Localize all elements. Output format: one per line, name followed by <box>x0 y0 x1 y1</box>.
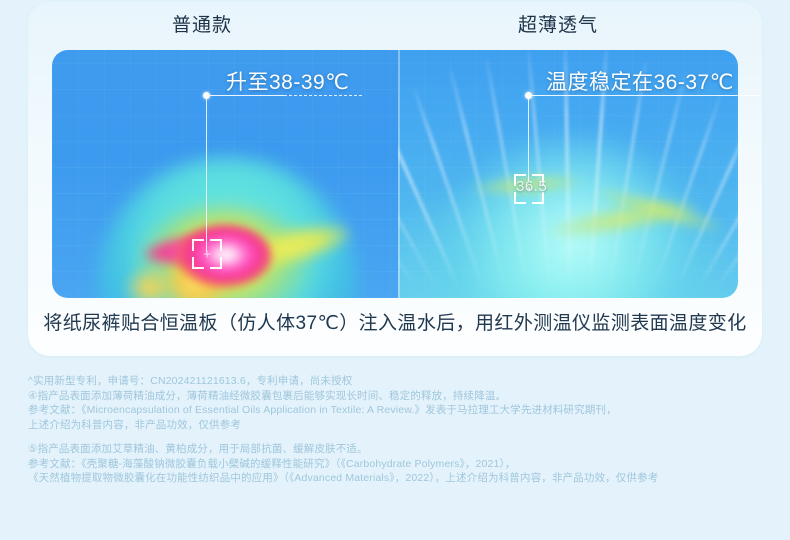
footnotes: ^实用新型专利，申请号：CN202421121613.6，专利申请，尚未授权 ④… <box>28 374 768 486</box>
experiment-caption: 将纸尿裤贴合恒温板（仿人体37℃）注入温水后，用红外测温仪监测表面温度变化 <box>28 308 762 335</box>
leader-line-right-vertical <box>528 95 529 181</box>
footnote-line: 上述介绍为科普内容，非产品功效，仅供参考 <box>28 418 768 433</box>
callout-temperature-ordinary: 升至38-39℃ <box>226 66 349 96</box>
thermal-blob-hot-core <box>176 224 272 288</box>
reticle-marker-left <box>192 239 222 269</box>
footnote-line: ^实用新型专利，申请号：CN202421121613.6，专利申请，尚未授权 <box>28 374 768 389</box>
footnote-line: 《天然植物提取物微胶囊化在功能性纺织品中的应用》（《Advanced Mater… <box>28 471 768 486</box>
footnote-line: ④指产品表面添加薄荷精油成分，薄荷精油经微胶囊包裹后能够实现长时间、稳定的释放，… <box>28 389 768 404</box>
panel-divider <box>398 50 400 298</box>
comparison-card: 普通款 超薄透气 <box>28 2 762 356</box>
leader-dot-right <box>525 92 532 99</box>
footnote-line: 参考文献：《壳聚糖-海藻酸钠微胶囊负载小檗碱的缓释性能研究》（《Carbohyd… <box>28 457 768 472</box>
reticle-reading-right: 36.5 <box>516 178 547 195</box>
column-heading-ordinary: 普通款 <box>172 10 232 37</box>
leader-dot-left <box>203 92 210 99</box>
footnote-spacer <box>28 432 768 442</box>
leader-line-left-vertical <box>206 95 207 252</box>
callout-temperature-breathable: 温度稳定在36-37℃ <box>546 66 734 96</box>
column-headings: 普通款 超薄透气 <box>28 10 762 50</box>
column-heading-breathable: 超薄透气 <box>518 10 598 37</box>
footnote-line: 参考文献：《Microencapsulation of Essential Oi… <box>28 403 768 418</box>
footnote-line: ⑤指产品表面添加艾草精油、黄柏成分，用于局部抗菌、缓解皮肤不适。 <box>28 442 768 457</box>
